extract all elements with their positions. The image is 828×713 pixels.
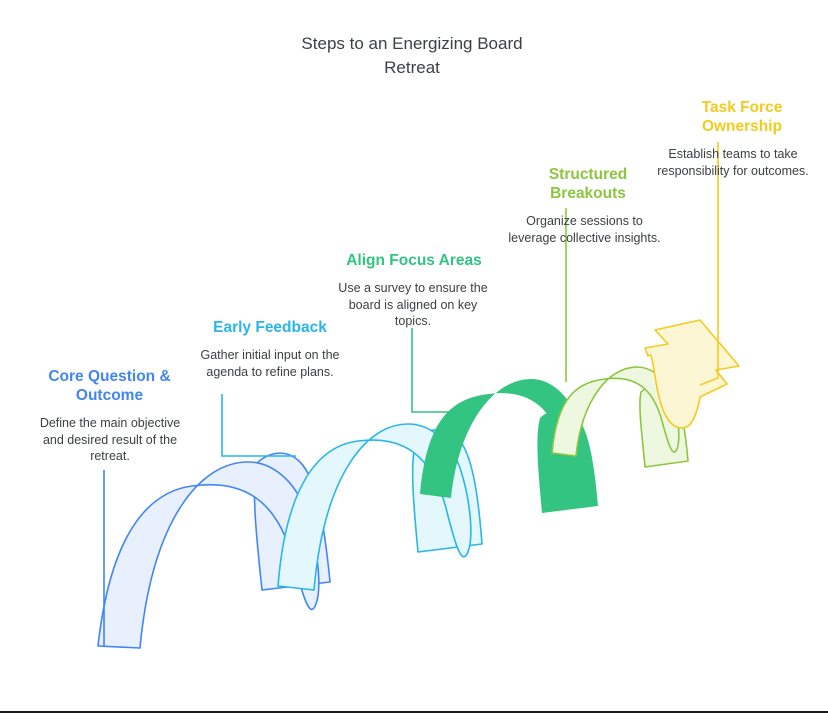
step-description-2: Gather initial input on the agenda to re… xyxy=(195,347,345,380)
infographic-canvas: Steps to an Energizing Board Retreat xyxy=(0,0,828,713)
step-description-5: Establish teams to take responsibility f… xyxy=(653,146,813,179)
step-label-4: Structured Breakouts xyxy=(508,165,668,203)
step-description-3: Use a survey to ensure the board is alig… xyxy=(337,280,489,330)
step-label-5: Task Force Ownership xyxy=(662,98,822,136)
connector-step2 xyxy=(222,394,296,456)
step-label-3: Align Focus Areas xyxy=(334,251,494,270)
connector-step3 xyxy=(412,328,470,412)
step-label-1: Core Question & Outcome xyxy=(33,367,186,405)
step-description-4: Organize sessions to leverage collective… xyxy=(507,213,662,246)
step-description-1: Define the main objective and desired re… xyxy=(36,415,184,465)
step-label-2: Early Feedback xyxy=(192,318,348,337)
